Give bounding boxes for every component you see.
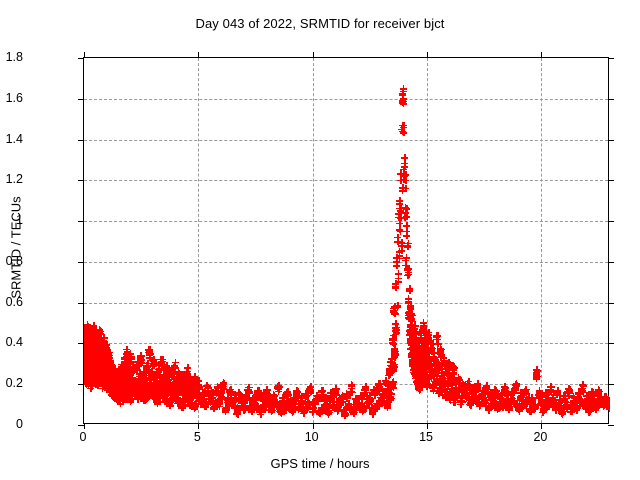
data-point [533, 370, 540, 377]
x-tick-label: 0 [80, 430, 87, 444]
data-point [217, 396, 224, 403]
data-point [402, 171, 409, 178]
x-tick-label: 5 [194, 430, 201, 444]
data-point [400, 129, 407, 136]
data-point [394, 302, 401, 309]
data-point [386, 395, 393, 402]
data-point [103, 341, 110, 348]
y-axis-title: SRMTID / TECUs [9, 148, 24, 348]
data-point [401, 160, 408, 167]
y-tick-label: 0.2 [0, 376, 23, 390]
data-point [433, 333, 440, 340]
data-point [390, 361, 397, 368]
data-point [391, 354, 398, 361]
data-point [403, 232, 410, 239]
data-point [404, 243, 411, 250]
chart-title: Day 043 of 2022, SRMTID for receiver bjc… [0, 16, 640, 31]
data-point [606, 404, 610, 411]
scatter-points [84, 58, 610, 425]
data-point [348, 383, 355, 390]
x-tick-label: 10 [305, 430, 319, 444]
x-tick-label: 20 [533, 430, 547, 444]
y-tick-label: 0 [0, 417, 23, 431]
data-point [393, 329, 400, 336]
data-point [395, 278, 402, 285]
x-tick-label: 15 [419, 430, 433, 444]
data-point [389, 383, 396, 390]
plot-frame [83, 57, 609, 424]
y-tick-label: 1.6 [0, 91, 23, 105]
data-point [406, 286, 413, 293]
y-tick-mark [608, 425, 614, 426]
data-point [244, 386, 251, 393]
data-point [393, 262, 400, 269]
y-tick-label: 1.8 [0, 50, 23, 64]
x-axis-title: GPS time / hours [0, 456, 640, 471]
data-point [400, 98, 407, 105]
data-point [403, 222, 410, 229]
data-point [392, 284, 399, 291]
y-tick-label: 1.4 [0, 132, 23, 146]
data-point [403, 206, 410, 213]
data-point [405, 265, 412, 272]
data-point [395, 270, 402, 277]
data-point [403, 213, 410, 220]
data-point [274, 384, 281, 391]
data-point [402, 185, 409, 192]
chart-root: Day 043 of 2022, SRMTID for receiver bjc… [0, 0, 640, 480]
